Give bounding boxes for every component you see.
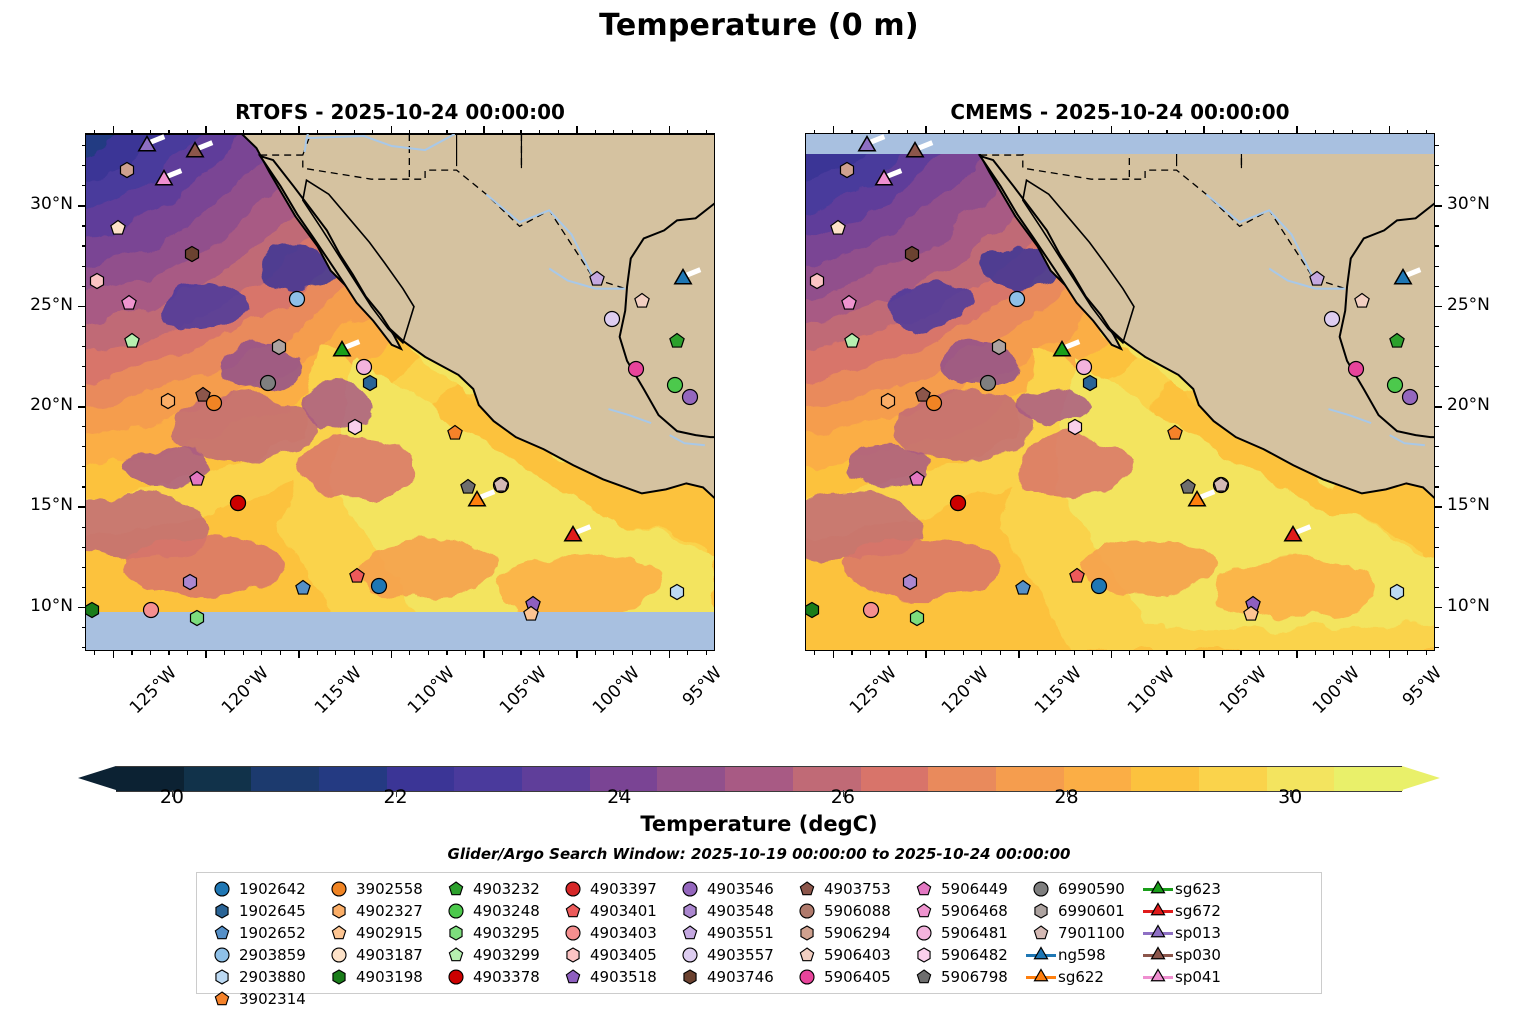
colorbar-extend-high — [1402, 766, 1440, 790]
x-minor-tick — [870, 651, 871, 655]
x-top-minor-tick — [1315, 130, 1316, 134]
colorbar-tick-label: 22 — [383, 786, 407, 808]
y-minor-tick — [1435, 185, 1439, 186]
legend-item-sp030[interactable]: sp030 — [1141, 944, 1221, 966]
x-top-tick — [113, 126, 115, 133]
legend-item-4903299[interactable]: 4903299 — [439, 944, 540, 966]
colorbar-segment — [1131, 767, 1199, 791]
x-tick — [205, 651, 207, 658]
map-marker-2903880[interactable] — [667, 582, 687, 602]
legend-item-6990601[interactable]: 6990601 — [1024, 900, 1125, 922]
legend-item-7901100[interactable]: 7901100 — [1024, 922, 1125, 944]
legend-label: 5906482 — [941, 946, 1008, 964]
y-minor-tick — [82, 647, 86, 648]
legend-label: 4903378 — [473, 968, 540, 986]
platform-legend[interactable]: 1902642190264519026522903859290388039023… — [196, 872, 1322, 994]
x-minor-tick — [243, 651, 244, 655]
x-top-tick — [925, 126, 927, 133]
x-top-minor-tick — [1055, 130, 1056, 134]
map-marker-sp030[interactable] — [183, 140, 208, 165]
x-top-minor-tick — [814, 130, 815, 134]
legend-item-4903557[interactable]: 4903557 — [673, 944, 774, 966]
x-tick-label: 95°W — [1398, 663, 1445, 710]
map-marker-6990590[interactable] — [978, 373, 998, 393]
x-top-minor-tick — [168, 130, 169, 134]
x-minor-tick — [907, 651, 908, 655]
map-marker-4903546[interactable] — [680, 387, 700, 407]
x-top-minor-tick — [280, 130, 281, 134]
x-top-tick — [576, 126, 578, 133]
legend-marker-hexagon-icon — [1024, 900, 1058, 922]
x-top-tick — [298, 126, 300, 133]
x-top-tick — [1296, 126, 1298, 133]
map-marker-4903232[interactable] — [1387, 331, 1407, 351]
legend-marker-triangle-line-icon — [1024, 944, 1058, 966]
y-minor-tick — [1435, 587, 1439, 588]
y-tick-label: 15°N — [1447, 495, 1490, 515]
map-marker-4903232[interactable] — [667, 331, 687, 351]
x-tick-label: 110°W — [1124, 663, 1179, 718]
x-minor-tick — [428, 651, 429, 655]
map-marker-3902314[interactable] — [1165, 423, 1185, 443]
map-marker-4903299[interactable] — [123, 331, 143, 351]
y-tick — [78, 306, 85, 308]
map-marker-5906405[interactable] — [1347, 359, 1367, 379]
map-marker-4903557[interactable] — [1322, 309, 1342, 329]
x-top-minor-tick — [687, 130, 688, 134]
legend-marker-circle-icon — [205, 944, 239, 966]
map-marker-4903299[interactable] — [843, 331, 863, 351]
map-marker-4903551[interactable] — [1308, 269, 1328, 289]
map-marker-4902915[interactable] — [1241, 604, 1261, 624]
map-marker-5906468[interactable] — [119, 293, 139, 313]
map-marker-2903859[interactable] — [1007, 289, 1027, 309]
map-marker-4902327[interactable] — [878, 391, 898, 411]
map-marker-4903746[interactable] — [902, 245, 922, 265]
legend-marker-hexagon-icon — [907, 944, 941, 966]
map-marker-5906294[interactable] — [837, 160, 857, 180]
x-minor-tick — [1129, 651, 1130, 655]
legend-marker-circle-icon — [673, 878, 707, 900]
legend-label: sg623 — [1175, 880, 1221, 898]
map-marker-4903187[interactable] — [828, 219, 848, 239]
legend-item-5906405[interactable]: 5906405 — [790, 966, 891, 988]
map-marker-5906468[interactable] — [839, 293, 859, 313]
map-marker-4903403[interactable] — [861, 600, 881, 620]
map-marker-4903557[interactable] — [602, 309, 622, 329]
x-minor-tick — [335, 651, 336, 655]
colorbar-tick-label: 26 — [831, 786, 855, 808]
legend-item-sg622[interactable]: sg622 — [1024, 966, 1125, 988]
legend-label: 3902314 — [239, 990, 306, 1008]
y-tick-label: 20°N — [0, 395, 73, 415]
x-minor-tick — [354, 651, 355, 655]
map-marker-4903401[interactable] — [1067, 566, 1087, 586]
x-top-minor-tick — [1129, 130, 1130, 134]
map-marker-sp013[interactable] — [855, 134, 880, 158]
x-minor-tick — [187, 651, 188, 655]
x-top-minor-tick — [372, 130, 373, 134]
x-top-tick — [205, 126, 207, 133]
map-marker-1902642[interactable] — [1089, 576, 1109, 596]
legend-column: 49033974903401490340349034054903518 — [556, 878, 657, 988]
map-marker-4903198[interactable] — [806, 600, 821, 620]
no-data-band — [86, 612, 714, 650]
figure-title: Temperature (0 m) — [0, 8, 1518, 43]
map-marker-1902645[interactable] — [1080, 373, 1100, 393]
x-minor-tick — [558, 651, 559, 655]
map-marker-4903405[interactable] — [87, 271, 107, 291]
x-top-tick — [1203, 126, 1205, 133]
map-marker-5906449[interactable] — [187, 470, 207, 490]
colorbar-segment — [454, 767, 522, 791]
x-top-minor-tick — [409, 130, 410, 134]
x-top-minor-tick — [1222, 130, 1223, 134]
legend-item-1902652[interactable]: 1902652 — [205, 922, 306, 944]
legend-item-5906468[interactable]: 5906468 — [907, 900, 1008, 922]
map-marker-2903859[interactable] — [287, 289, 307, 309]
map-panel-cmems[interactable] — [805, 133, 1435, 651]
map-marker-5906403[interactable] — [632, 291, 652, 311]
x-minor-tick — [888, 651, 889, 655]
x-top-tick — [1018, 126, 1020, 133]
legend-item-5906403[interactable]: 5906403 — [790, 944, 891, 966]
colorbar[interactable] — [78, 766, 1440, 790]
map-marker-1902652[interactable] — [1013, 578, 1033, 598]
legend-label: 4903397 — [590, 880, 657, 898]
legend-marker-hexagon-icon — [556, 944, 590, 966]
y-minor-tick — [82, 426, 86, 427]
legend-item-4903746[interactable]: 4903746 — [673, 966, 774, 988]
colorbar-segment — [522, 767, 590, 791]
map-marker-5906482[interactable] — [345, 417, 365, 437]
legend-item-5906481[interactable]: 5906481 — [907, 922, 1008, 944]
legend-item-4902915[interactable]: 4902915 — [322, 922, 423, 944]
x-top-minor-tick — [981, 130, 982, 134]
legend-label: 4903403 — [590, 924, 657, 942]
legend-item-4902327[interactable]: 4902327 — [322, 900, 423, 922]
x-top-tick — [669, 126, 671, 133]
map-marker-4903198[interactable] — [86, 600, 101, 620]
x-top-minor-tick — [502, 130, 503, 134]
legend-label: 4903401 — [590, 902, 657, 920]
legend-label: 2903880 — [239, 968, 306, 986]
legend-marker-circle-icon — [556, 878, 590, 900]
x-minor-tick — [131, 651, 132, 655]
legend-item-4903248[interactable]: 4903248 — [439, 900, 540, 922]
map-marker-1902642[interactable] — [369, 576, 389, 596]
legend-label: sp030 — [1175, 946, 1221, 964]
x-minor-tick — [150, 651, 151, 655]
y-minor-tick — [1435, 266, 1439, 267]
x-top-minor-tick — [944, 130, 945, 134]
legend-item-5906088[interactable]: 5906088 — [790, 900, 891, 922]
x-top-minor-tick — [354, 130, 355, 134]
legend-item-ng598[interactable]: ng598 — [1024, 944, 1125, 966]
y-minor-tick — [82, 547, 86, 548]
legend-label: 4903295 — [473, 924, 540, 942]
x-minor-tick — [687, 651, 688, 655]
legend-item-5906449[interactable]: 5906449 — [907, 878, 1008, 900]
map-marker-4903746[interactable] — [182, 245, 202, 265]
legend-marker-pentagon-icon — [439, 878, 473, 900]
y-tick-label: 20°N — [1447, 395, 1490, 415]
x-top-minor-tick — [1407, 130, 1408, 134]
colorbar-segment — [1199, 767, 1267, 791]
legend-label: 5906294 — [824, 924, 891, 942]
x-minor-tick — [446, 651, 447, 655]
map-marker-5906449[interactable] — [907, 470, 927, 490]
map-marker-4903405[interactable] — [807, 271, 827, 291]
legend-marker-pentagon-icon — [790, 878, 824, 900]
y-minor-tick — [82, 567, 86, 568]
legend-item-sg623[interactable]: sg623 — [1141, 878, 1221, 900]
legend-label: 5906449 — [941, 880, 1008, 898]
x-top-minor-tick — [706, 130, 707, 134]
x-top-tick — [1389, 126, 1391, 133]
legend-item-sp013[interactable]: sp013 — [1141, 922, 1221, 944]
map-marker-sg623[interactable] — [329, 338, 354, 363]
map-marker-4903546[interactable] — [1400, 387, 1420, 407]
map-marker-ng598[interactable] — [1390, 266, 1415, 291]
map-marker-6990590[interactable] — [258, 373, 278, 393]
legend-label: 4903198 — [356, 968, 423, 986]
map-marker-4903295[interactable] — [907, 608, 927, 628]
legend-item-5906482[interactable]: 5906482 — [907, 944, 1008, 966]
legend-marker-circle-icon — [1024, 878, 1058, 900]
y-tick-label: 30°N — [0, 194, 73, 214]
x-minor-tick — [1240, 651, 1241, 655]
legend-label: 1902652 — [239, 924, 306, 942]
legend-item-4903551[interactable]: 4903551 — [673, 922, 774, 944]
legend-label: 4903546 — [707, 880, 774, 898]
legend-marker-pentagon-icon — [556, 900, 590, 922]
legend-label: 4903232 — [473, 880, 540, 898]
x-tick-label: 110°W — [404, 663, 459, 718]
x-top-minor-tick — [1166, 130, 1167, 134]
map-marker-sg672[interactable] — [1281, 523, 1306, 548]
x-top-tick — [483, 126, 485, 133]
y-tick-label: 25°N — [0, 295, 73, 315]
x-top-minor-tick — [243, 130, 244, 134]
y-tick — [78, 607, 85, 609]
map-marker-ng598[interactable] — [670, 266, 695, 291]
map-marker-2903880[interactable] — [1387, 582, 1407, 602]
x-top-minor-tick — [317, 130, 318, 134]
map-marker-7901100[interactable] — [1211, 476, 1231, 496]
y-minor-tick — [82, 326, 86, 327]
colorbar-segment — [657, 767, 725, 791]
x-minor-tick — [632, 651, 633, 655]
x-minor-tick — [261, 651, 262, 655]
map-marker-1902652[interactable] — [293, 578, 313, 598]
legend-marker-triangle-line-icon — [1141, 900, 1175, 922]
x-top-minor-tick — [224, 130, 225, 134]
legend-label: 1902642 — [239, 880, 306, 898]
legend-marker-triangle-line-icon — [1141, 922, 1175, 944]
x-tick-label: 120°W — [938, 663, 993, 718]
map-marker-4903401[interactable] — [347, 566, 367, 586]
legend-column: sg623sg672sp013sp030sp041 — [1141, 878, 1221, 988]
map-marker-1902645[interactable] — [360, 373, 380, 393]
colorbar-segment — [319, 767, 387, 791]
map-marker-4902915[interactable] — [521, 604, 541, 624]
x-minor-tick — [981, 651, 982, 655]
legend-item-4903187[interactable]: 4903187 — [322, 944, 423, 966]
legend-item-4903403[interactable]: 4903403 — [556, 922, 657, 944]
y-tick — [78, 406, 85, 408]
y-tick-label: 10°N — [1447, 596, 1490, 616]
legend-item-4903405[interactable]: 4903405 — [556, 944, 657, 966]
legend-item-4903401[interactable]: 4903401 — [556, 900, 657, 922]
x-minor-tick — [539, 651, 540, 655]
legend-item-4903546[interactable]: 4903546 — [673, 878, 774, 900]
map-marker-4903187[interactable] — [108, 219, 128, 239]
legend-label: 6990590 — [1058, 880, 1125, 898]
y-minor-tick — [1435, 446, 1439, 447]
map-marker-4903378[interactable] — [948, 494, 968, 514]
legend-item-6990590[interactable]: 6990590 — [1024, 878, 1125, 900]
x-top-minor-tick — [1000, 130, 1001, 134]
legend-marker-pentagon-icon — [673, 922, 707, 944]
x-minor-tick — [224, 651, 225, 655]
map-marker-sg672[interactable] — [561, 523, 586, 548]
x-minor-tick — [1278, 651, 1279, 655]
legend-label: 2903859 — [239, 946, 306, 964]
legend-item-4903232[interactable]: 4903232 — [439, 878, 540, 900]
legend-marker-triangle-line-icon — [1141, 966, 1175, 988]
legend-marker-circle-icon — [322, 944, 356, 966]
y-minor-tick — [82, 346, 86, 347]
x-tick — [1203, 651, 1205, 658]
legend-item-sg672[interactable]: sg672 — [1141, 900, 1221, 922]
search-window-label: Glider/Argo Search Window: 2025-10-19 00… — [0, 845, 1518, 863]
legend-item-3902314[interactable]: 3902314 — [205, 988, 306, 1010]
map-marker-3902558[interactable] — [204, 393, 224, 413]
legend-item-2903880[interactable]: 2903880 — [205, 966, 306, 988]
map-marker-sg623[interactable] — [1049, 338, 1074, 363]
x-top-minor-tick — [870, 130, 871, 134]
map-marker-4903548[interactable] — [180, 572, 200, 592]
y-minor-tick — [82, 386, 86, 387]
y-tick — [78, 205, 85, 207]
y-minor-tick — [1435, 426, 1439, 427]
y-tick-label: 15°N — [0, 495, 73, 515]
legend-column: 699059069906017901100ng598sg622 — [1024, 878, 1125, 988]
legend-item-sp041[interactable]: sp041 — [1141, 966, 1221, 988]
legend-item-5906798[interactable]: 5906798 — [907, 966, 1008, 988]
legend-item-1902642[interactable]: 1902642 — [205, 878, 306, 900]
map-marker-sp013[interactable] — [135, 134, 160, 158]
legend-label: 5906468 — [941, 902, 1008, 920]
legend-marker-circle-icon — [205, 878, 239, 900]
y-minor-tick — [1435, 547, 1439, 548]
colorbar-segment — [251, 767, 319, 791]
map-marker-3902558[interactable] — [924, 393, 944, 413]
map-panel-rtofs[interactable] — [85, 133, 715, 651]
legend-item-4903378[interactable]: 4903378 — [439, 966, 540, 988]
legend-marker-hexagon-icon — [205, 966, 239, 988]
x-tick — [669, 651, 671, 658]
y-minor-tick — [82, 587, 86, 588]
map-marker-5906798[interactable] — [1178, 478, 1198, 498]
x-tick — [925, 651, 927, 658]
legend-label: 4903248 — [473, 902, 540, 920]
panel-title-cmems: CMEMS - 2025-10-24 00:00:00 — [805, 100, 1435, 124]
legend-item-5906294[interactable]: 5906294 — [790, 922, 891, 944]
x-minor-tick — [706, 651, 707, 655]
colorbar-segment — [861, 767, 929, 791]
map-marker-5906798[interactable] — [458, 478, 478, 498]
map-marker-4903548[interactable] — [900, 572, 920, 592]
legend-item-4903518[interactable]: 4903518 — [556, 966, 657, 988]
map-marker-7901100[interactable] — [491, 476, 511, 496]
y-tick — [1435, 406, 1442, 408]
legend-marker-pentagon-icon — [439, 944, 473, 966]
map-marker-5906482[interactable] — [1065, 417, 1085, 437]
map-marker-4902327[interactable] — [158, 391, 178, 411]
legend-item-4903548[interactable]: 4903548 — [673, 900, 774, 922]
map-marker-3902314[interactable] — [445, 423, 465, 443]
legend-label: 4903299 — [473, 946, 540, 964]
x-minor-tick — [650, 651, 651, 655]
legend-label: 3902558 — [356, 880, 423, 898]
map-marker-sp030[interactable] — [903, 140, 928, 165]
map-marker-5906405[interactable] — [627, 359, 647, 379]
legend-label: 5906403 — [824, 946, 891, 964]
map-marker-4903378[interactable] — [228, 494, 248, 514]
x-minor-tick — [1092, 651, 1093, 655]
x-minor-tick — [1222, 651, 1223, 655]
legend-item-2903859[interactable]: 2903859 — [205, 944, 306, 966]
x-minor-tick — [502, 651, 503, 655]
x-minor-tick — [944, 651, 945, 655]
legend-item-1902645[interactable]: 1902645 — [205, 900, 306, 922]
x-tick — [576, 651, 578, 658]
legend-item-4903295[interactable]: 4903295 — [439, 922, 540, 944]
map-marker-4903295[interactable] — [187, 608, 207, 628]
map-marker-6990601[interactable] — [989, 337, 1009, 357]
map-marker-6990601[interactable] — [269, 337, 289, 357]
map-marker-4903551[interactable] — [588, 269, 608, 289]
map-marker-sp041[interactable] — [871, 168, 896, 193]
legend-label: 4903746 — [707, 968, 774, 986]
x-minor-tick — [1407, 651, 1408, 655]
figure-canvas: Temperature (0 m) RTOFS - 2025-10-24 00:… — [0, 0, 1518, 1015]
legend-item-4903198[interactable]: 4903198 — [322, 966, 423, 988]
legend-item-4903753[interactable]: 4903753 — [790, 878, 891, 900]
x-minor-tick — [1055, 651, 1056, 655]
colorbar-tick-label: 30 — [1278, 786, 1302, 808]
map-marker-sp041[interactable] — [151, 168, 176, 193]
legend-marker-pentagon-icon — [205, 922, 239, 944]
map-marker-5906294[interactable] — [117, 160, 137, 180]
x-tick — [298, 651, 300, 658]
map-marker-4903403[interactable] — [141, 600, 161, 620]
legend-label: sg672 — [1175, 902, 1221, 920]
x-top-minor-tick — [131, 130, 132, 134]
legend-marker-circle-icon — [439, 966, 473, 988]
x-top-tick — [1111, 126, 1113, 133]
map-marker-5906403[interactable] — [1352, 291, 1372, 311]
legend-item-3902558[interactable]: 3902558 — [322, 878, 423, 900]
legend-marker-hexagon-icon — [673, 900, 707, 922]
legend-item-4903397[interactable]: 4903397 — [556, 878, 657, 900]
y-minor-tick — [82, 366, 86, 367]
x-top-minor-tick — [1278, 130, 1279, 134]
y-minor-tick — [1435, 486, 1439, 487]
legend-label: sg622 — [1058, 968, 1104, 986]
